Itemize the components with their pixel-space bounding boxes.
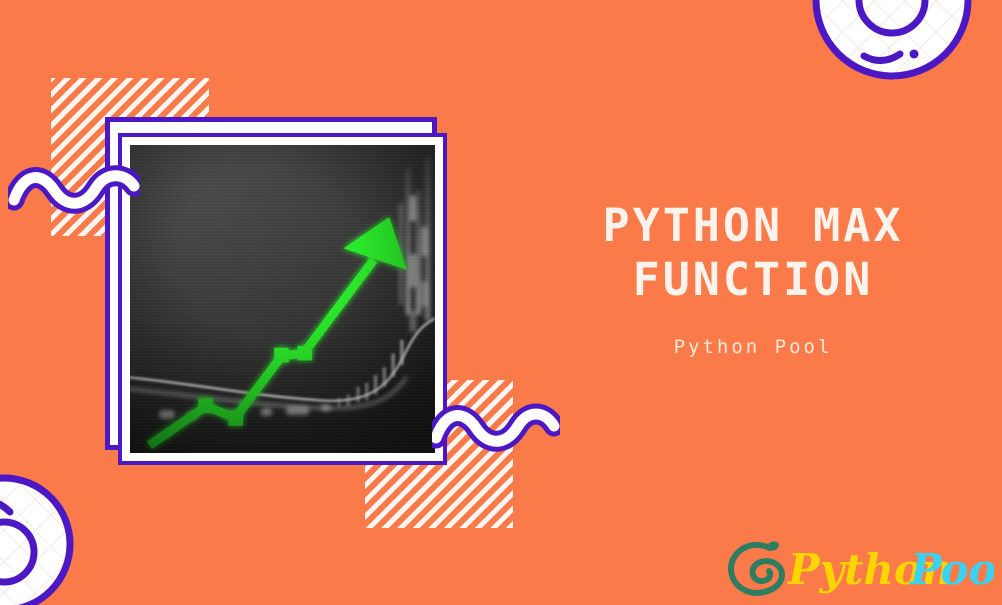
thumbnail-canvas: PYTHON MAX FUNCTION Python Pool Python P… bbox=[0, 0, 1002, 605]
photo-vignette bbox=[130, 145, 435, 453]
stock-chart-photo bbox=[130, 145, 435, 453]
page-subtitle: Python Pool bbox=[553, 336, 953, 358]
donut-bottom-left-icon bbox=[0, 468, 102, 605]
photo-frame bbox=[118, 133, 447, 465]
python-snake-spiral-icon bbox=[731, 540, 782, 593]
wave-right-icon bbox=[432, 396, 560, 462]
wave-left-icon bbox=[8, 160, 140, 222]
python-pool-logo[interactable]: Python Pool bbox=[726, 534, 994, 600]
logo-word-pool: Pool bbox=[909, 545, 994, 594]
donut-top-right-icon bbox=[796, 0, 1002, 110]
page-title: PYTHON MAX FUNCTION bbox=[553, 199, 953, 307]
